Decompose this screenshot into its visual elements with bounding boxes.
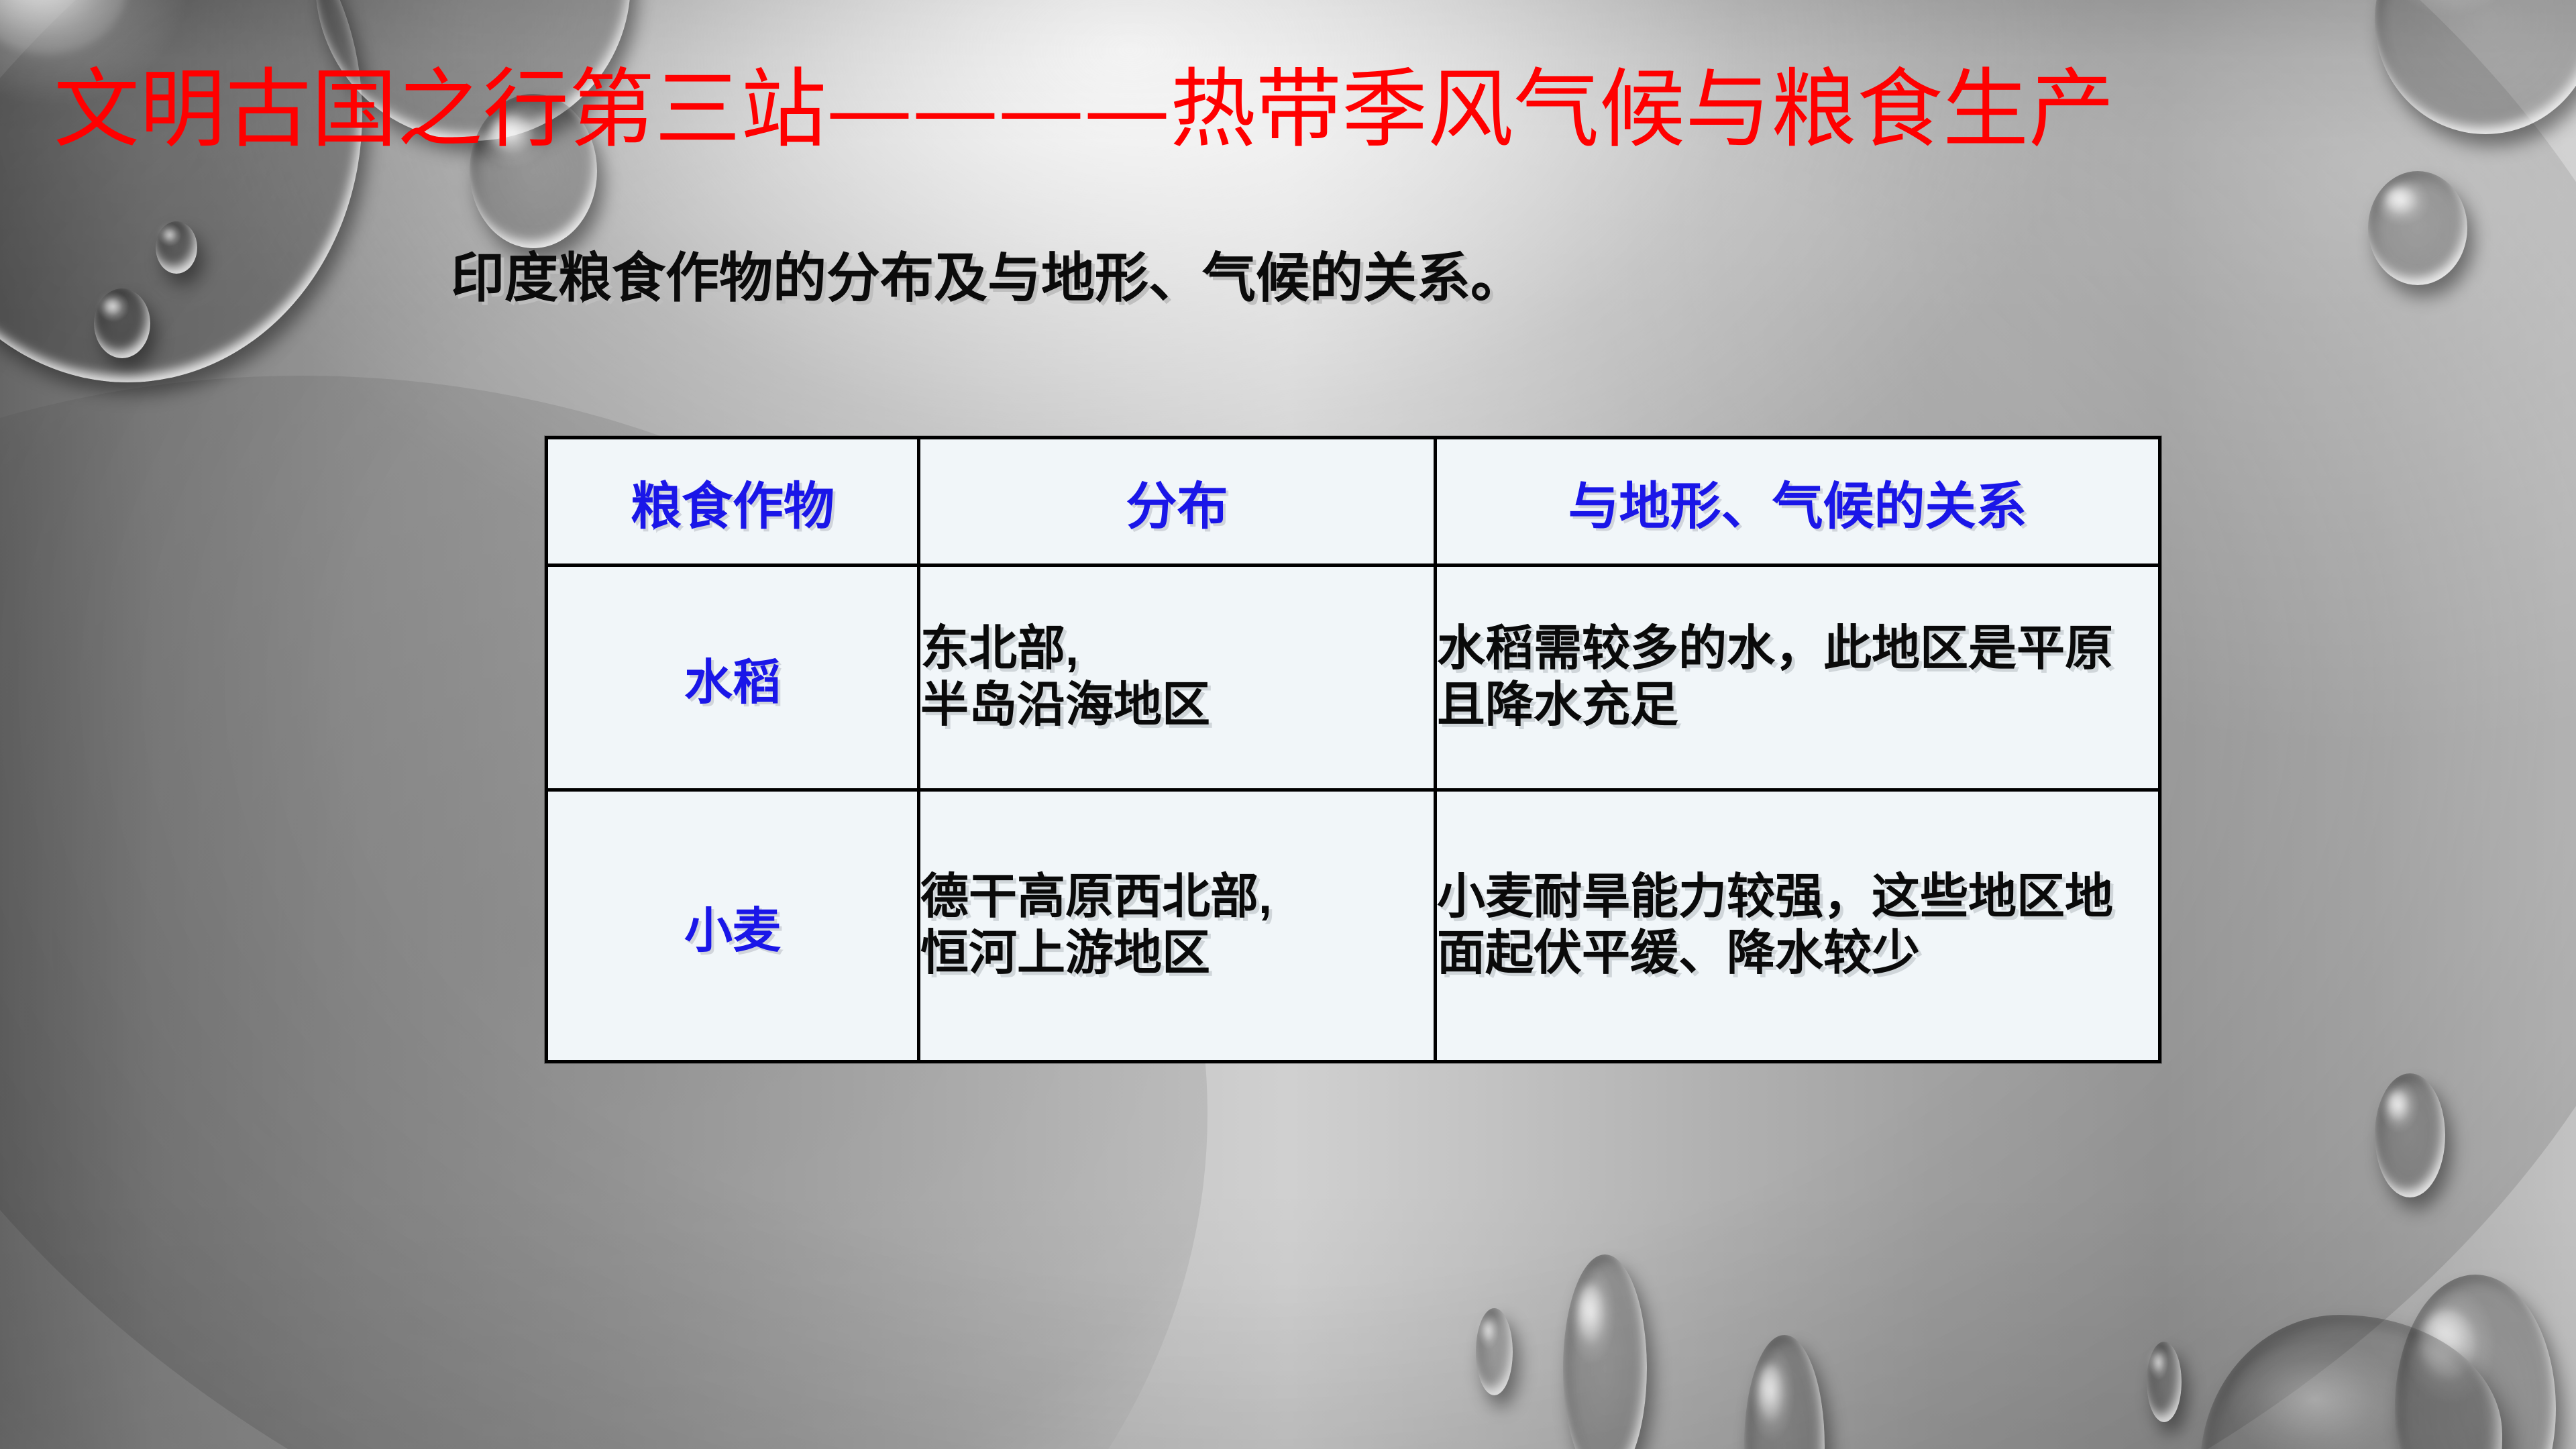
cell-distribution-wheat: 德干高原西北部, 恒河上游地区 <box>919 790 1436 1062</box>
cell-distribution-rice: 东北部, 半岛沿海地区 <box>919 566 1436 790</box>
crop-distribution-table: 粮食作物 分布 与地形、气候的关系 水稻 东北部, 半岛沿海地区 水稻需较多的水… <box>545 436 2161 1063</box>
slide-subtitle: 印度粮食作物的分布及与地形、气候的关系。 <box>451 235 1524 313</box>
distribution-line-2: 恒河上游地区 <box>920 926 1434 982</box>
column-header-distribution: 分布 <box>919 438 1436 566</box>
table-row: 小麦 德干高原西北部, 恒河上游地区 小麦耐旱能力较强，这些地区地面起伏平缓、降… <box>547 790 2160 1062</box>
distribution-line-2: 半岛沿海地区 <box>920 678 1434 734</box>
cell-relation-rice: 水稻需较多的水，此地区是平原且降水充足 <box>1436 566 2160 790</box>
slide-title: 文明古国之行第三站————热带季风气候与粮食生产 <box>54 67 2267 153</box>
column-header-relation: 与地形、气候的关系 <box>1436 438 2160 566</box>
table-row: 水稻 东北部, 半岛沿海地区 水稻需较多的水，此地区是平原且降水充足 <box>547 566 2160 790</box>
cell-crop-wheat: 小麦 <box>547 790 919 1062</box>
column-header-crop: 粮食作物 <box>547 438 919 566</box>
distribution-line-1: 德干高原西北部, <box>920 869 1434 926</box>
distribution-line-1: 东北部, <box>920 621 1434 678</box>
cell-relation-wheat: 小麦耐旱能力较强，这些地区地面起伏平缓、降水较少 <box>1436 790 2160 1062</box>
presentation-slide: 文明古国之行第三站————热带季风气候与粮食生产 印度粮食作物的分布及与地形、气… <box>0 0 2576 1449</box>
table-header-row: 粮食作物 分布 与地形、气候的关系 <box>547 438 2160 566</box>
cell-crop-rice: 水稻 <box>547 566 919 790</box>
